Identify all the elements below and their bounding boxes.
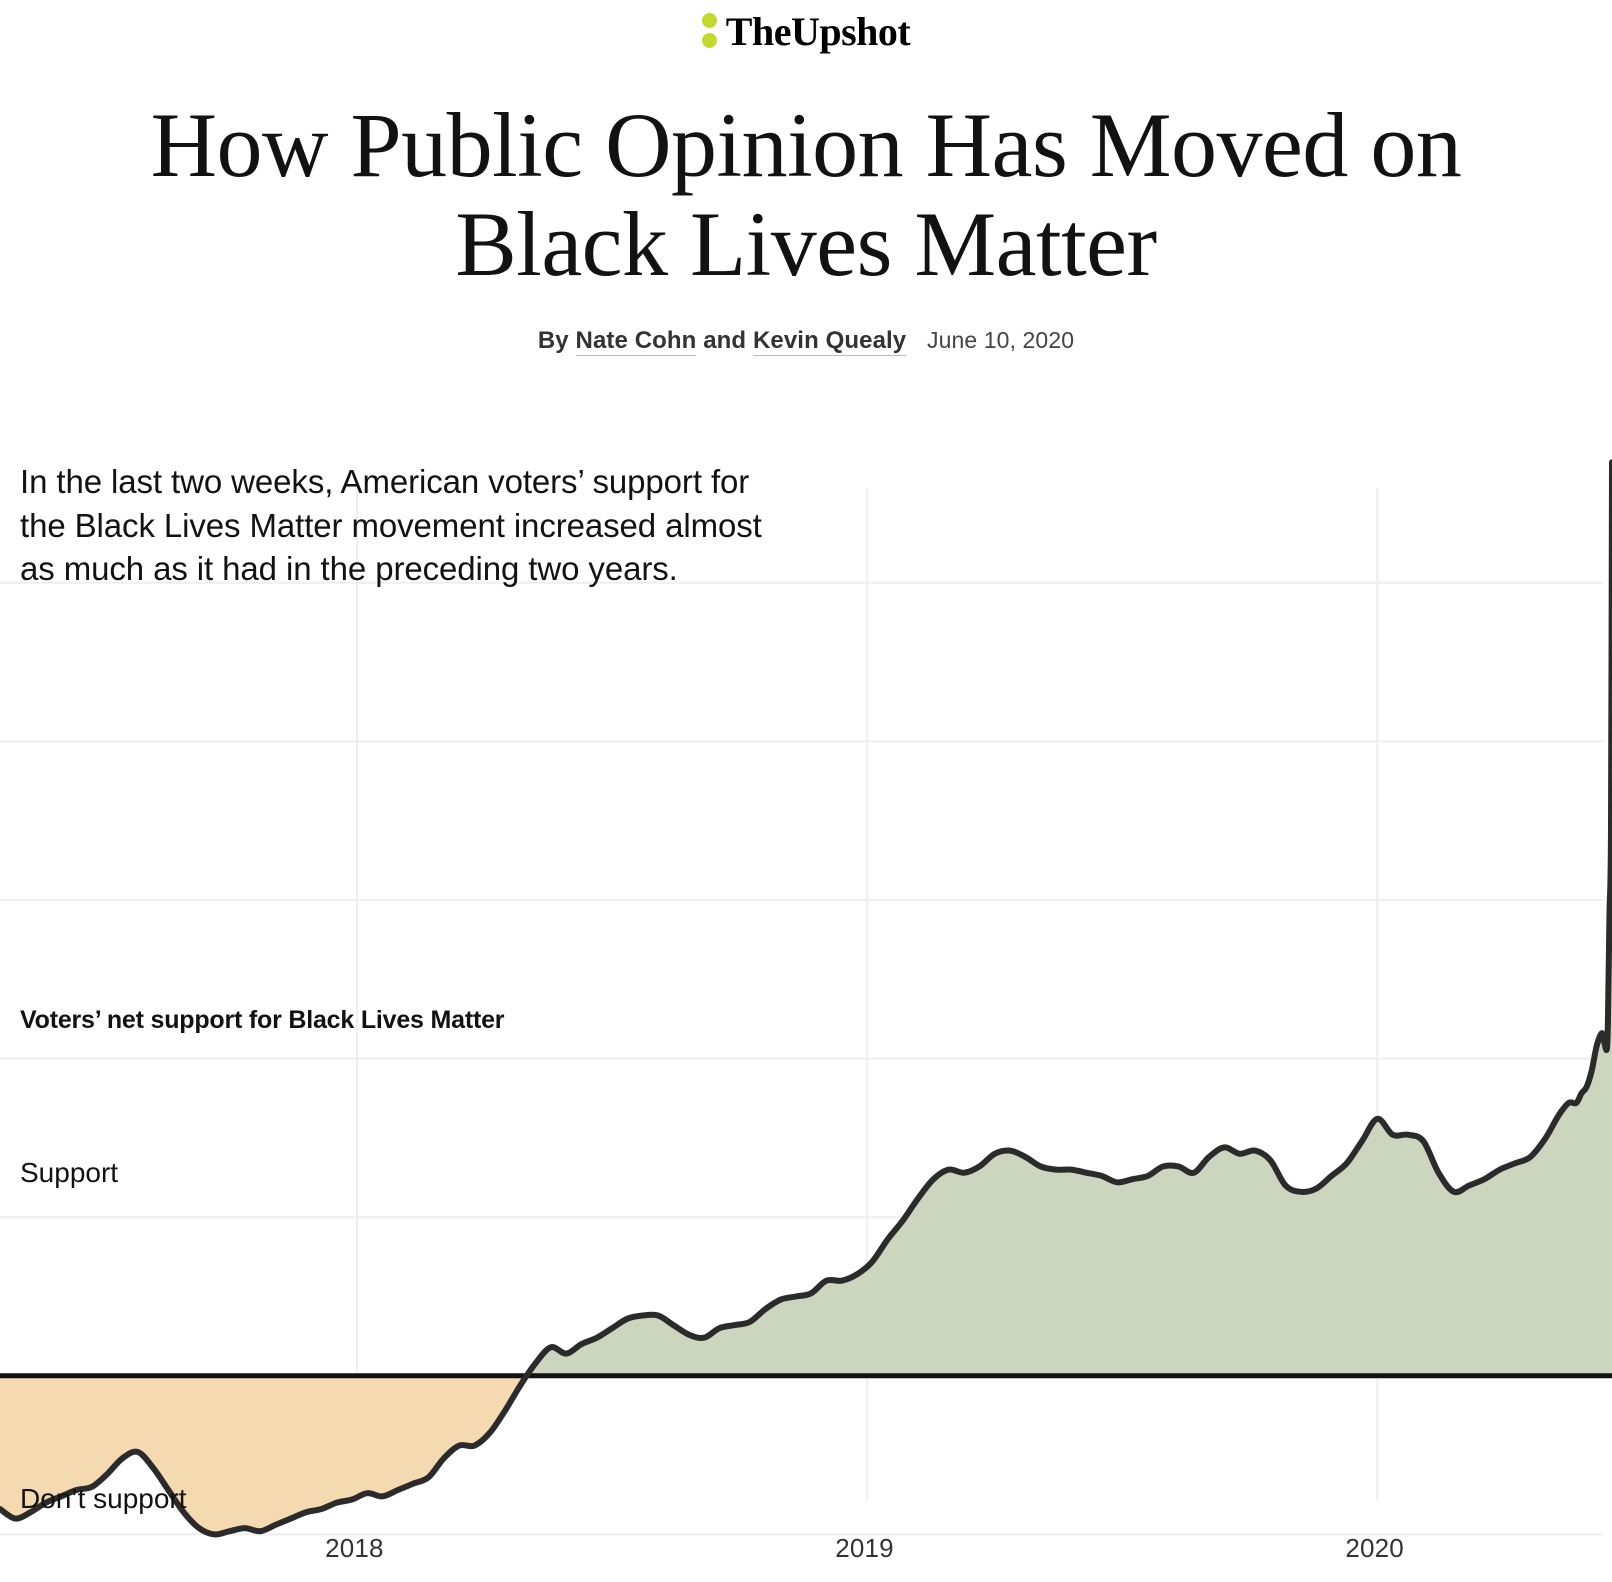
- byline-conjunction: and: [703, 327, 746, 354]
- x-axis-tick-1: 2019: [835, 1533, 894, 1564]
- page-title: How Public Opinion Has Moved on Black Li…: [106, 96, 1506, 295]
- byline: By Nate Cohn and Kevin Quealy June 10, 2…: [0, 327, 1612, 355]
- chart-series-label-text: Voters’ net support for Black Lives Matt…: [20, 1006, 504, 1034]
- upshot-dots-icon: [702, 13, 717, 50]
- headline-line-2: Black Lives Matter: [455, 193, 1156, 295]
- upshot-logo[interactable]: TheUpshot: [702, 8, 910, 55]
- chart-series-label: Voters’ net support for Black Lives Matt…: [20, 1005, 504, 1036]
- publication-date: June 10, 2020: [927, 327, 1074, 353]
- dont-support-annotation: Don’t support: [20, 1483, 187, 1515]
- headline-line-1: How Public Opinion Has Moved on: [151, 94, 1462, 196]
- x-axis-tick-2: 2020: [1345, 1533, 1404, 1564]
- intro-paragraph: In the last two weeks, American voters’ …: [20, 460, 780, 591]
- masthead: TheUpshot: [0, 0, 1612, 58]
- support-annotation: Support: [20, 1157, 118, 1189]
- x-axis-tick-0: 2018: [325, 1533, 384, 1564]
- chart-container: In the last two weeks, American voters’ …: [0, 440, 1612, 1582]
- upshot-wordmark: TheUpshot: [726, 8, 910, 55]
- byline-prefix: By: [538, 327, 569, 354]
- author-link-1[interactable]: Nate Cohn: [576, 327, 697, 356]
- author-link-2[interactable]: Kevin Quealy: [753, 327, 906, 356]
